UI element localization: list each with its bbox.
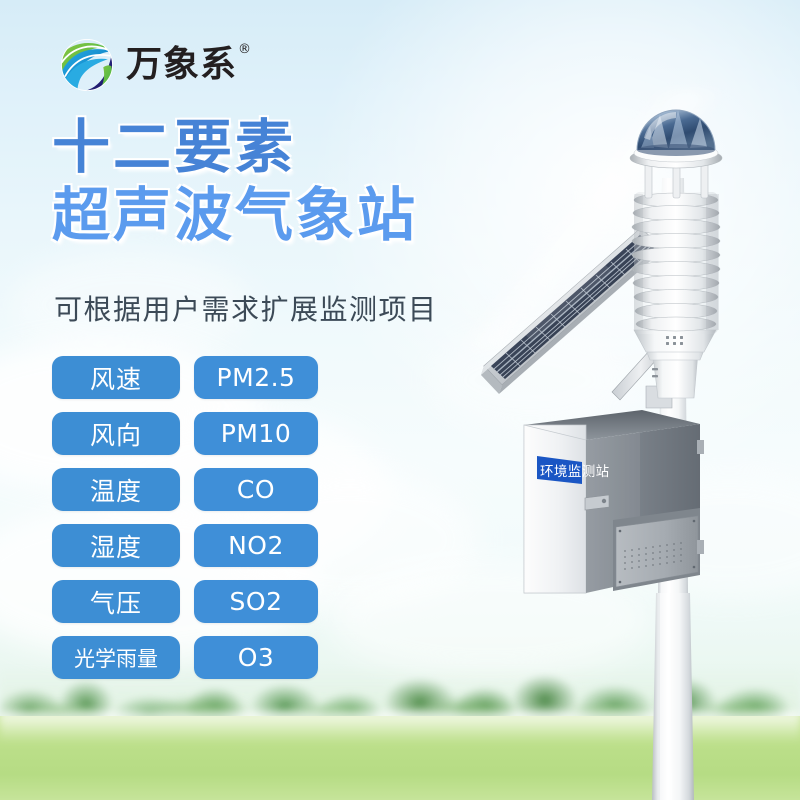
globe-ribbon-logo xyxy=(58,36,116,94)
tag-air-pressure[interactable]: 气压 xyxy=(52,580,180,623)
tag-o3[interactable]: O3 xyxy=(194,636,318,679)
mounting-mast-lower xyxy=(652,593,694,800)
enclosure-label-text: 环境监测站 xyxy=(540,464,610,480)
product-poster: 环境监测站 xyxy=(0,0,800,800)
brand-name-wrapper: 万象系 ® xyxy=(126,47,237,83)
brand-logo: 万象系 ® xyxy=(58,36,237,94)
brand-name: 万象系 xyxy=(126,44,237,85)
headline-line-2: 超声波气象站 xyxy=(52,186,418,244)
door-latch xyxy=(585,495,609,510)
ultrasonic-sensor-head xyxy=(630,110,722,398)
tag-no2[interactable]: NO2 xyxy=(194,524,318,567)
headline: 十二要素 超声波气象站 xyxy=(52,118,418,244)
tag-pm10[interactable]: PM10 xyxy=(194,412,318,455)
headline-line-1: 十二要素 xyxy=(52,118,418,176)
control-enclosure: 环境监测站 xyxy=(524,410,704,593)
tag-wind-direction[interactable]: 风向 xyxy=(52,412,180,455)
tag-so2[interactable]: SO2 xyxy=(194,580,318,623)
tag-co[interactable]: CO xyxy=(194,468,318,511)
tag-column-pollutants: PM2.5 PM10 CO NO2 SO2 O3 xyxy=(194,356,318,679)
tag-column-weather: 风速 风向 温度 湿度 气压 光学雨量 xyxy=(52,356,180,679)
registered-mark: ® xyxy=(238,43,252,56)
tag-humidity[interactable]: 湿度 xyxy=(52,524,180,567)
tag-pm25[interactable]: PM2.5 xyxy=(194,356,318,399)
feature-tag-grid: 风速 风向 温度 湿度 气压 光学雨量 PM2.5 PM10 CO NO2 SO… xyxy=(52,356,318,679)
tag-optical-rainfall[interactable]: 光学雨量 xyxy=(52,636,180,679)
radiation-shield xyxy=(632,192,720,334)
tag-temperature[interactable]: 温度 xyxy=(52,468,180,511)
tag-wind-speed[interactable]: 风速 xyxy=(52,356,180,399)
ultrasonic-dome xyxy=(637,110,715,156)
subtitle: 可根据用户需求扩展监测项目 xyxy=(54,288,438,328)
